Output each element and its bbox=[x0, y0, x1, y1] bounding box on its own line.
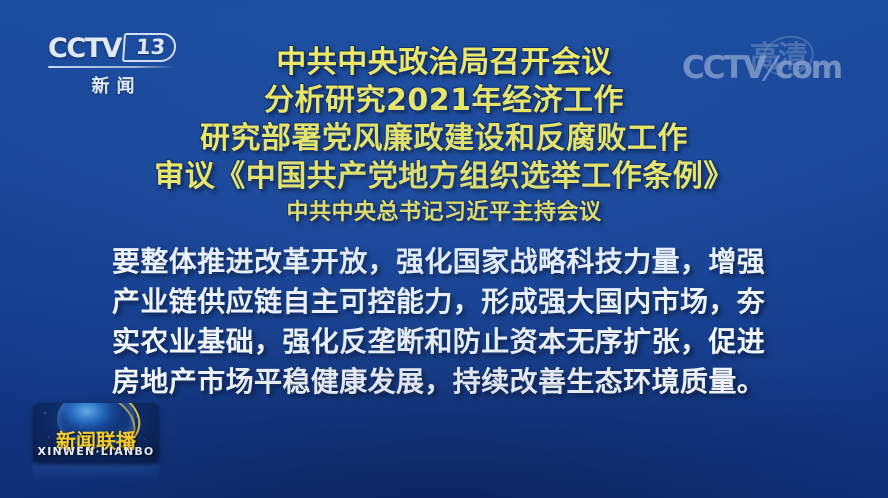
body-line-3: 实农业基础，强化反垄断和防止资本无序扩张，促进 bbox=[112, 322, 784, 362]
headline-line-1: 中共中央政治局召开会议 bbox=[0, 44, 888, 82]
headline-line-2: 分析研究2021年经济工作 bbox=[0, 82, 888, 120]
program-name-en: XINWEN·LIANBO bbox=[33, 445, 159, 458]
headline-line-3: 研究部署党风廉政建设和反腐败工作 bbox=[0, 120, 888, 158]
headline-line-4: 审议《中国共产党地方组织选举工作条例》 bbox=[0, 158, 888, 196]
body-line-4: 房地产市场平稳健康发展，持续改善生态环境质量。 bbox=[112, 362, 784, 402]
headline-block: 中共中央政治局召开会议 分析研究2021年经济工作 研究部署党风廉政建设和反腐败… bbox=[0, 44, 888, 229]
body-line-2: 产业链供应链自主可控能力，形成强大国内市场，夯 bbox=[112, 282, 784, 322]
body-paragraph: 要整体推进改革开放，强化国家战略科技力量，增强 产业链供应链自主可控能力，形成强… bbox=[112, 242, 784, 402]
headline-subtitle: 中共中央总书记习近平主持会议 bbox=[0, 197, 888, 229]
body-line-1: 要整体推进改革开放，强化国家战略科技力量，增强 bbox=[112, 242, 784, 282]
program-logo-xinwen-lianbo: 新闻联播 XINWEN·LIANBO bbox=[33, 403, 159, 463]
broadcast-frame: CCTV 13 新闻 高清 CCTV/com 中共中央政治局召开会议 分析研究2… bbox=[0, 0, 888, 498]
program-logo-reflection bbox=[33, 464, 159, 482]
